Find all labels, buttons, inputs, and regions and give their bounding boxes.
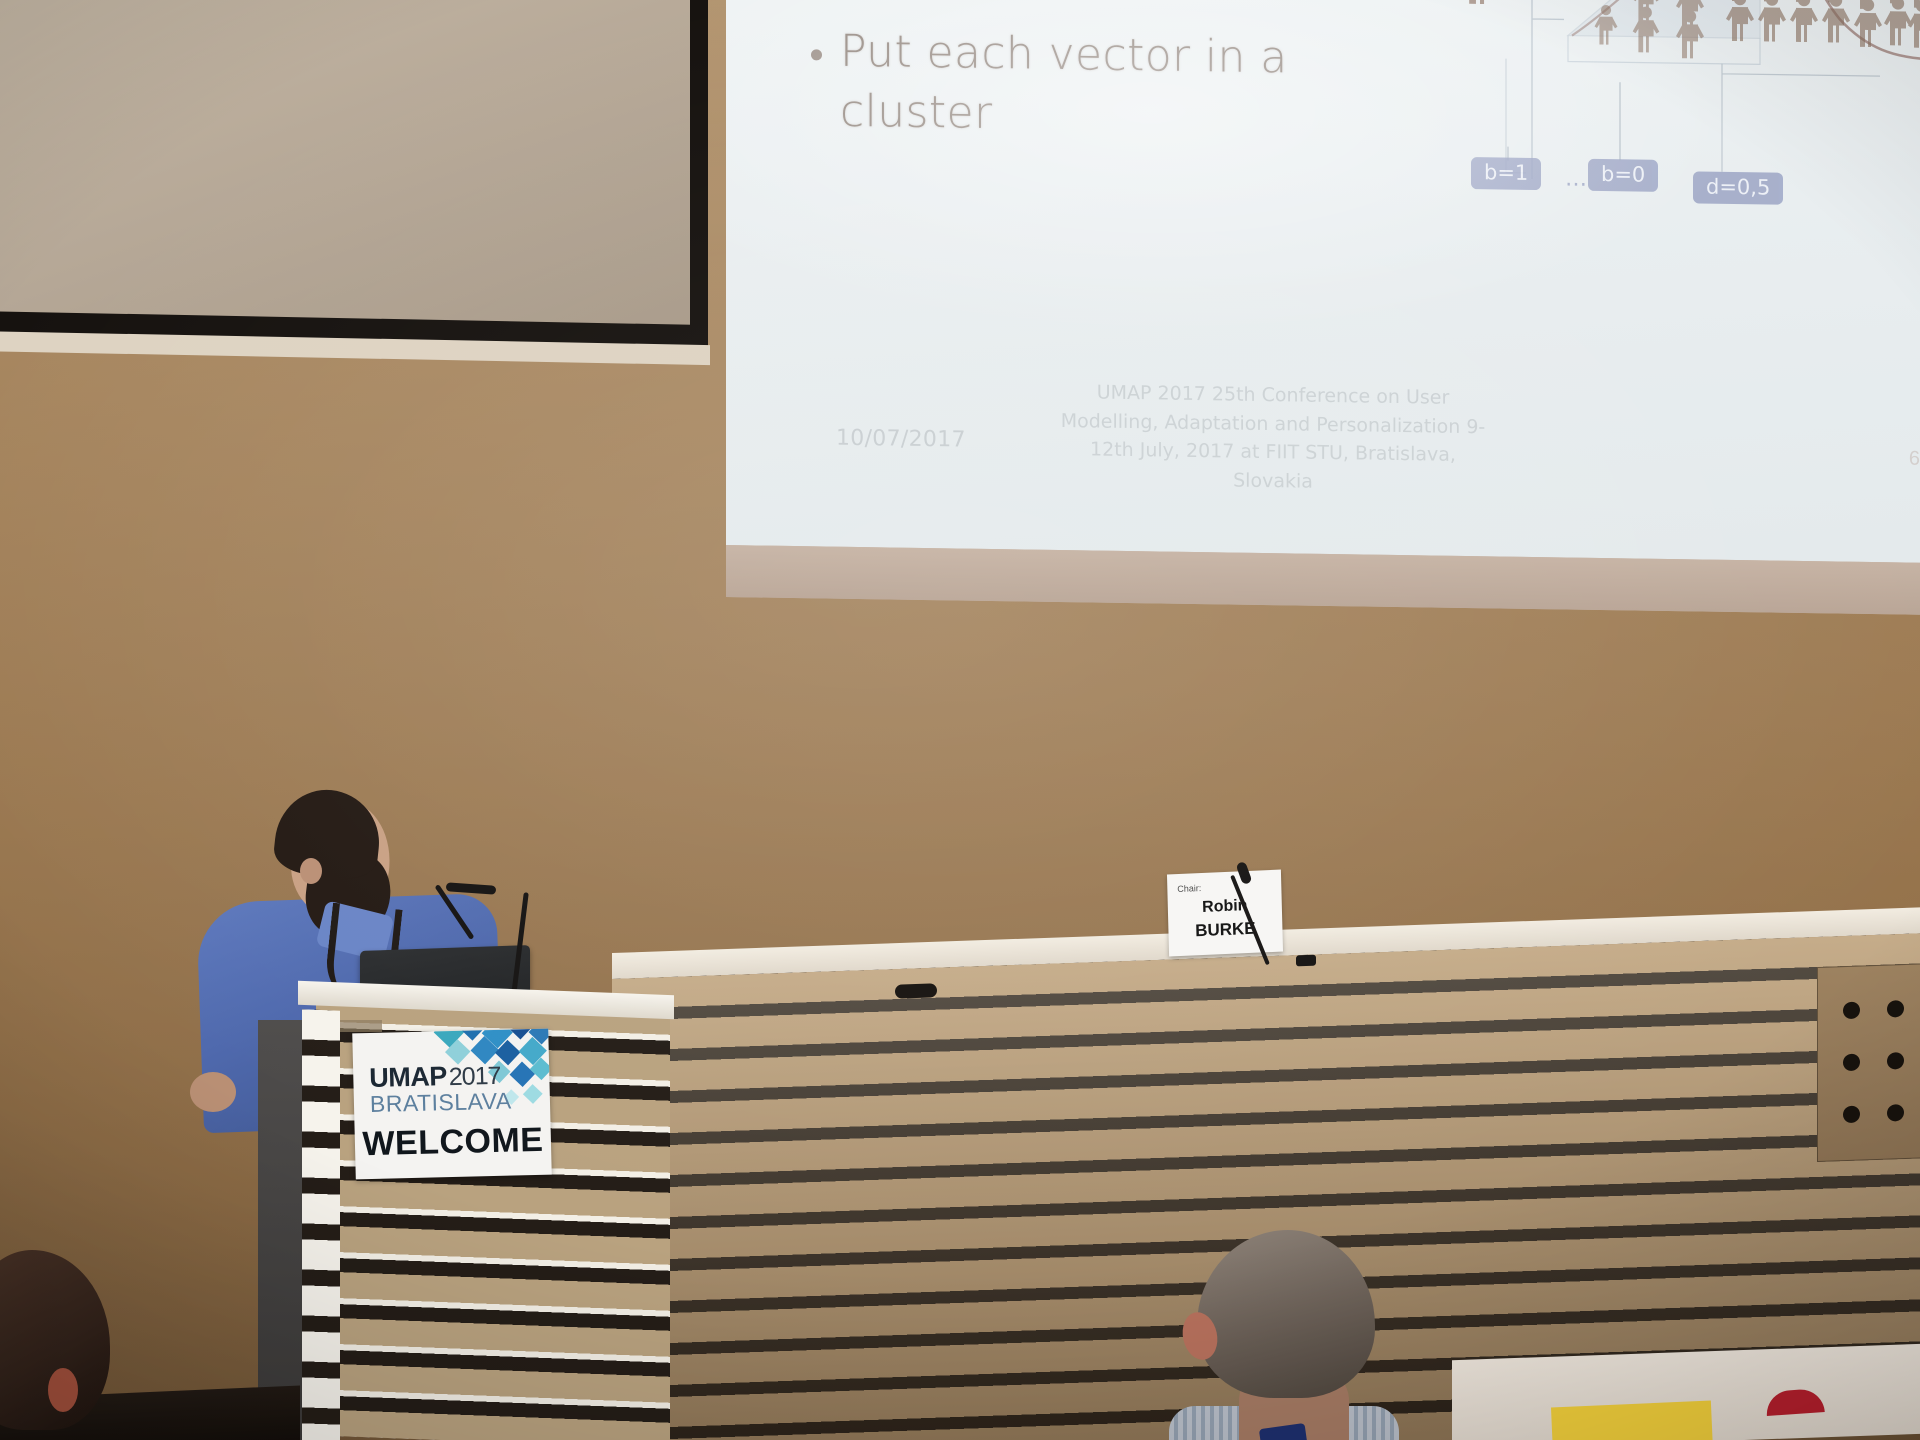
cable-port-panel [1817, 963, 1920, 1162]
bullet-text: Put each vector in a cluster [840, 22, 1371, 149]
port-hole-icon [1887, 1000, 1904, 1018]
status-badge: b=0 [1588, 159, 1658, 192]
presenter-ear [300, 858, 322, 884]
remote-control [895, 983, 937, 998]
secondary-projection-screen [0, 0, 692, 327]
audience-member-right [1175, 1230, 1405, 1440]
port-hole-icon [1887, 1052, 1904, 1070]
main-projection-screen: Candidates list Put each vector in a clu… [726, 0, 1920, 615]
port-hole-icon [1843, 1054, 1860, 1072]
slide-page-number: 6 [1909, 448, 1920, 471]
status-badge: b=1 [1471, 157, 1541, 190]
screen-frame-right [690, 0, 708, 347]
presenter-hand-left [190, 1072, 236, 1112]
presentation-slide: Candidates list Put each vector in a clu… [726, 0, 1920, 563]
audience-hair [1197, 1230, 1375, 1398]
port-hole-icon [1843, 1002, 1860, 1020]
slide-conference-footer: UMAP 2017 25th Conference on User Modell… [1058, 378, 1488, 498]
audience-member-left [0, 1250, 140, 1440]
namecard-role-label: Chair: [1177, 883, 1201, 894]
conference-room-photo: Candidates list Put each vector in a clu… [0, 0, 1920, 1440]
slide-date: 10/07/2017 [836, 426, 966, 453]
list-item: Put each vector in a cluster [811, 22, 1371, 149]
umap-welcome-sign: UMAP 2017 BRATISLAVA WELCOME [352, 1029, 552, 1180]
namecard-first-name: Robin [1168, 896, 1282, 919]
diagram-badge-group: b=1 … b=0 d=0,5 [1460, 0, 1920, 247]
long-tail-cluster-diagram: b=1 … b=0 d=0,5 [1460, 0, 1920, 247]
podium-slat-edges [302, 1009, 340, 1440]
welcome-text: WELCOME [354, 1121, 551, 1165]
name-card: Chair: Robin BURKE [1167, 870, 1283, 957]
yellow-paper [1551, 1401, 1713, 1440]
list-item: Candidates list [811, 0, 1371, 8]
mic-base [1296, 955, 1316, 967]
slide-bullet-list: Candidates list Put each vector in a clu… [811, 0, 1371, 171]
audience-ear [48, 1368, 78, 1412]
presenter-hair [272, 785, 384, 881]
bullet-text: Candidates list [840, 0, 1172, 5]
podium-plate [340, 1020, 382, 1032]
bullet-dot-icon [811, 50, 822, 61]
port-hole-icon [1843, 1106, 1860, 1124]
status-badge: d=0,5 [1693, 171, 1783, 204]
screen-surface [0, 0, 692, 327]
namecard-last-name: BURKE [1168, 918, 1282, 943]
port-hole-icon [1887, 1104, 1904, 1122]
umap-city-text: BRATISLAVA [370, 1088, 512, 1118]
